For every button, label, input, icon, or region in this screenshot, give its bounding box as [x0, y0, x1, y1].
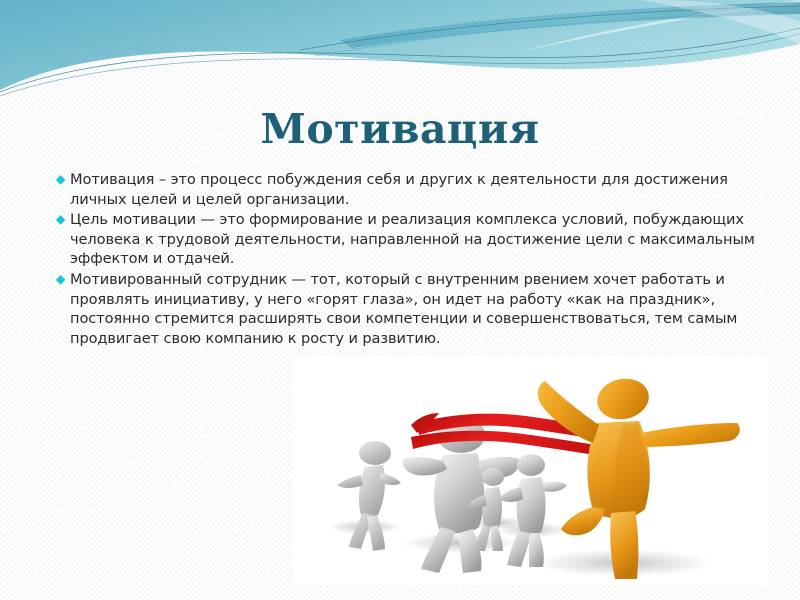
diamond-bullet-icon: ◆: [56, 170, 70, 190]
list-item-text: Мотивированный сотрудник — тот, который …: [70, 270, 756, 348]
motivation-illustration: [293, 355, 768, 585]
list-item-text: Мотивация – это процесс побуждения себя …: [70, 170, 756, 209]
bullet-list: ◆ Мотивация – это процесс побуждения себ…: [56, 170, 756, 349]
banner-wave-graphic: [0, 0, 800, 96]
slide-canvas: Мотивация ◆ Мотивация – это процесс побу…: [0, 0, 800, 600]
list-item: ◆ Мотивация – это процесс побуждения себ…: [56, 170, 756, 209]
finish-line-race-graphic: [293, 355, 768, 585]
list-item: ◆ Мотивированный сотрудник — тот, которы…: [56, 270, 756, 348]
slide-title: Мотивация: [0, 104, 800, 154]
list-item-text: Цель мотивации — это формирование и реал…: [70, 210, 756, 269]
diamond-bullet-icon: ◆: [56, 210, 70, 230]
list-item: ◆ Цель мотивации — это формирование и ре…: [56, 210, 756, 269]
slide-header-banner: [0, 0, 800, 96]
diamond-bullet-icon: ◆: [56, 270, 70, 290]
